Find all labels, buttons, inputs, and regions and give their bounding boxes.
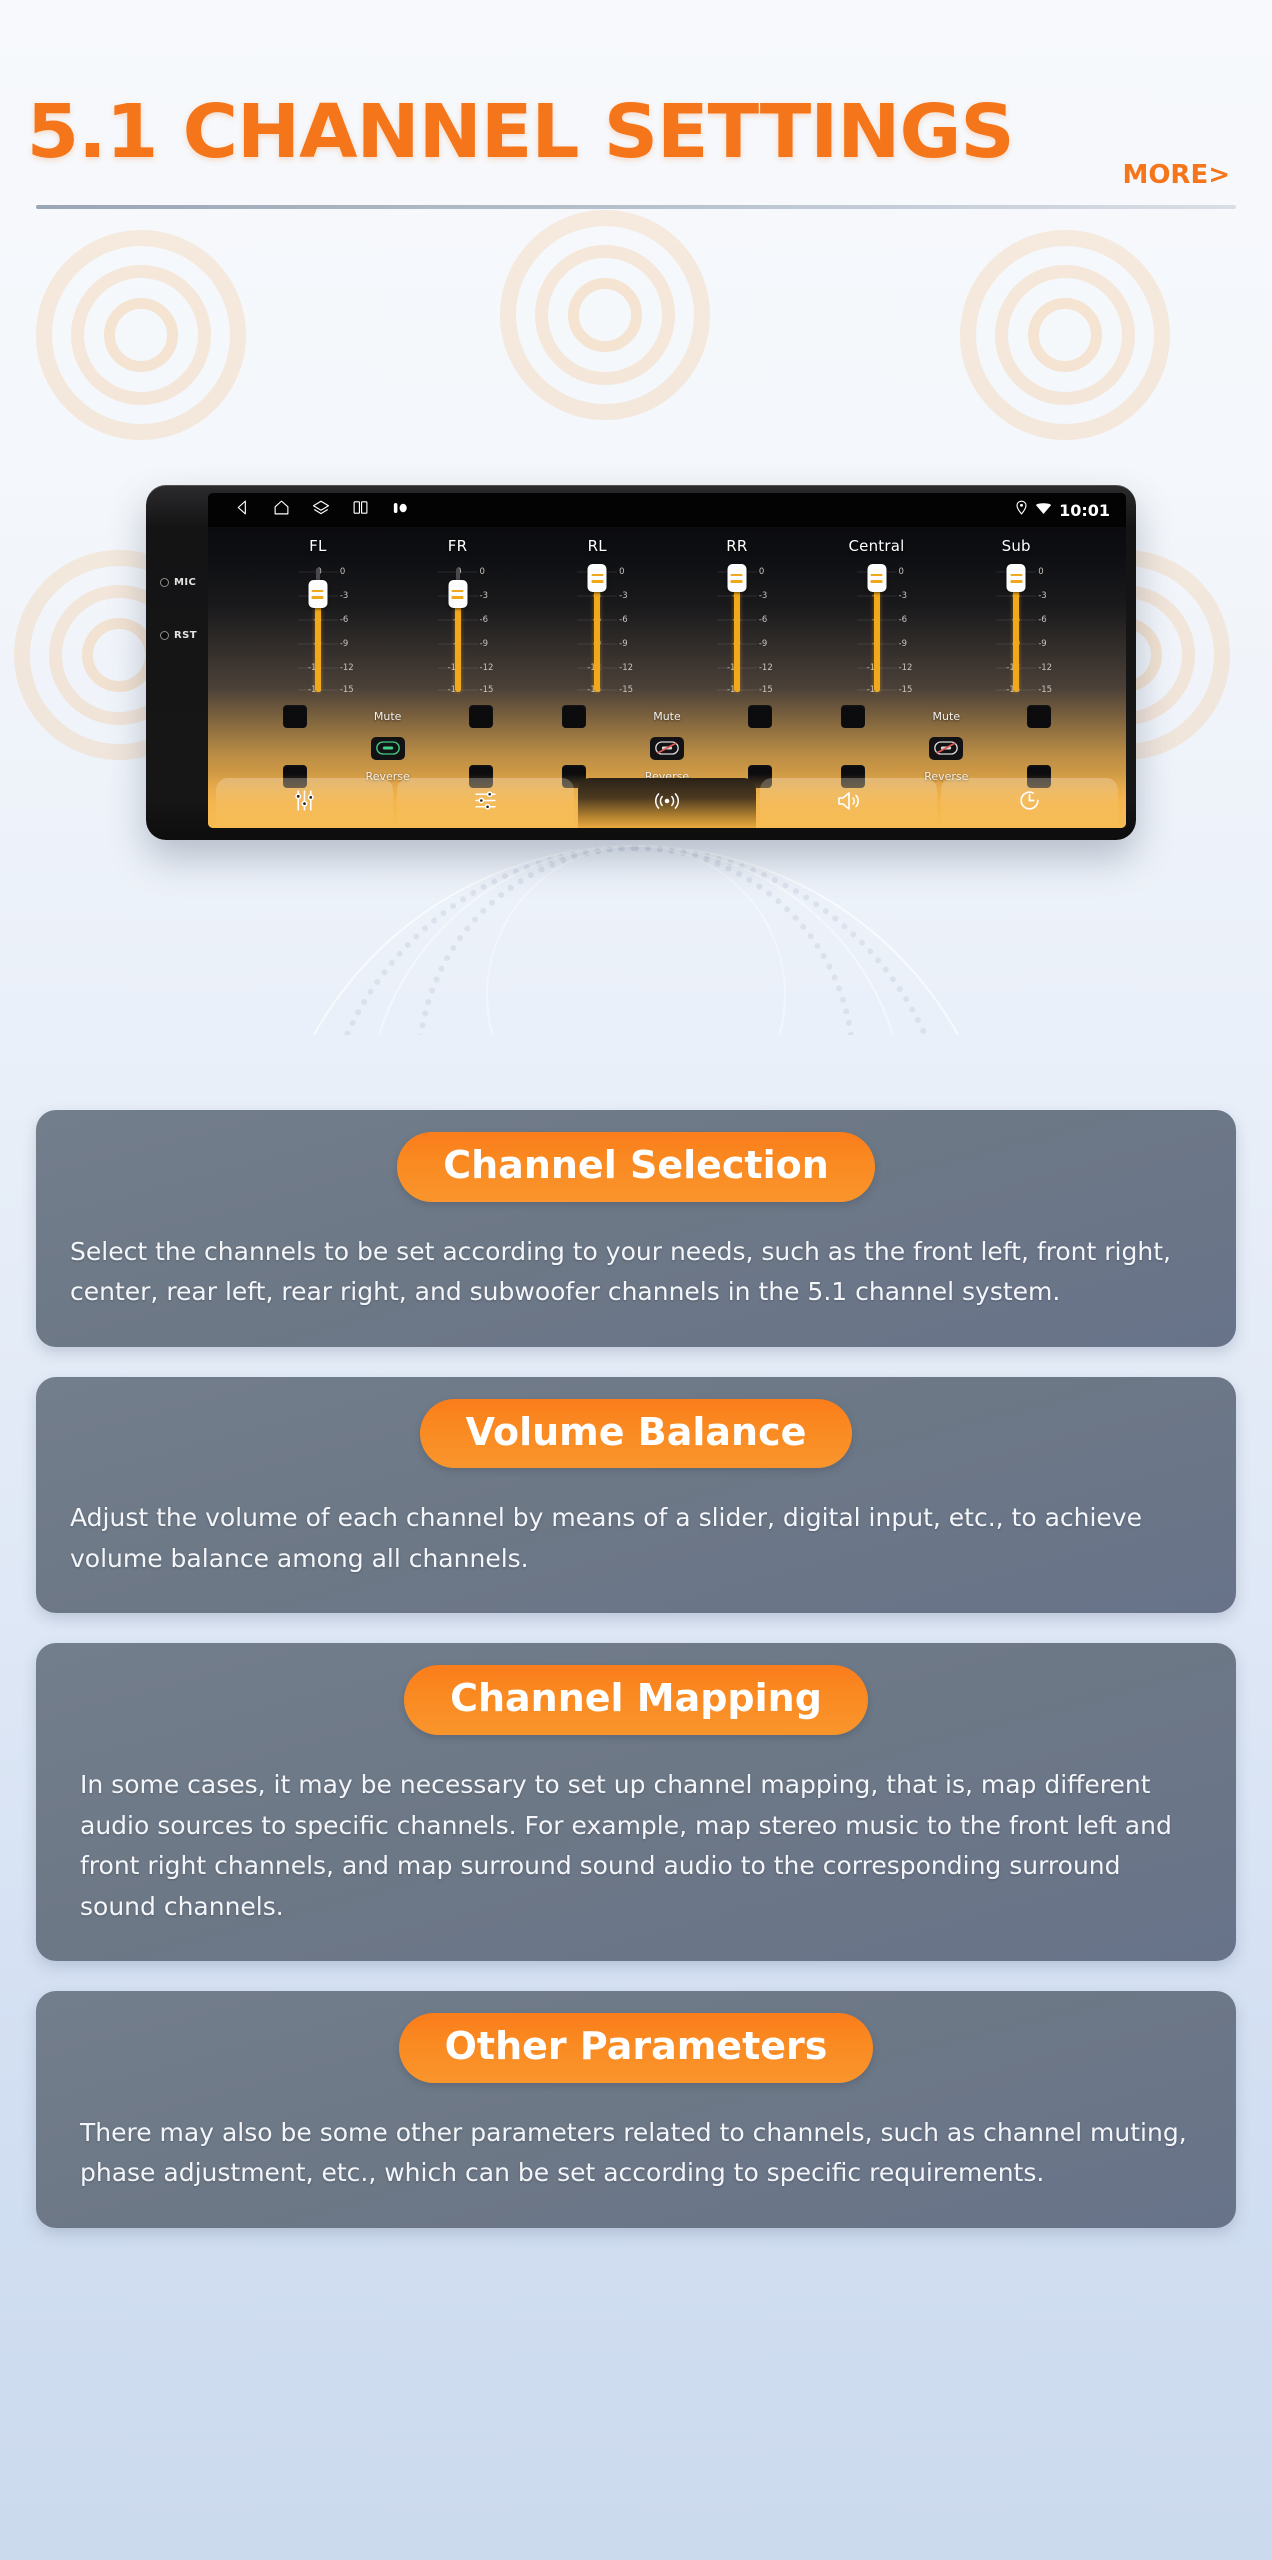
channel-slider-fl[interactable]: 0 -3 -6 -9 -12 -15 0 -3 -6 -9 -12 [272,566,364,694]
surround-icon [652,789,682,818]
android-status-bar: 10:01 [208,493,1126,527]
channel-mixer: FL 0 -3 -6 -9 -12 -15 0 - [208,527,1126,694]
pad-cell[interactable] [527,700,620,732]
channel-label: RL [588,537,607,555]
tick-label: -3 [759,591,785,601]
tick-label: -3 [899,591,925,601]
device-side-buttons: MIC RST [160,577,208,683]
speaker-icon [835,789,861,818]
wifi-icon [1035,501,1052,520]
channel-strip-rl: RL 0 -3 -6 -9 -12 -15 0 - [527,537,667,694]
tick-label: -9 [480,639,506,649]
channel-label: RR [726,537,747,555]
toggle-off-icon[interactable] [650,737,684,760]
pad-cell[interactable] [807,700,900,732]
channel-strip-rr: RR 0 -3 -6 -9 -12 -15 0 - [667,537,807,694]
slider-thumb[interactable] [448,580,467,608]
hud-reflection [256,845,1016,1035]
card-body: Adjust the volume of each channel by mea… [36,1498,1236,1579]
back-icon[interactable] [234,499,251,521]
card-body: Select the channels to be set according … [36,1232,1236,1313]
tick-label: -6 [899,615,925,625]
toggle-row [248,732,1086,760]
volume-tab[interactable] [760,778,937,828]
tick-label: -3 [340,591,366,601]
tick-label: -6 [759,615,785,625]
pad-cell[interactable] [434,700,527,732]
channel-slider-fr[interactable]: 0 -3 -6 -9 -12 -15 0 -3 -6 -9 -12 [412,566,504,694]
tick-label: 0 [480,567,506,577]
tick-label: -12 [480,663,506,673]
mute-row: Mute Mute Mute [248,700,1086,732]
tick-label: 0 [899,567,925,577]
pad-button [1027,705,1051,728]
reset-button[interactable]: RST [160,630,208,641]
channel-strip-central: Central 0 -3 -6 -9 -12 -15 0 [807,537,947,694]
channel-label: Sub [1002,537,1031,555]
mic-hole-icon [160,578,169,587]
channel-label: FL [309,537,326,555]
card-channel-mapping: Channel Mapping In some cases, it may be… [36,1643,1236,1961]
tick-label: -12 [340,663,366,673]
tick-label: -9 [759,639,785,649]
screen-toolbar [208,774,1126,828]
status-bar-time: 10:01 [1059,501,1110,520]
mute-label: Mute [933,710,961,723]
channel-slider-rr[interactable]: 0 -3 -6 -9 -12 -15 0 -3 -6 -9 -12 [691,566,783,694]
head-unit-device: MIC RST [146,485,1136,840]
volume-icon[interactable] [391,500,411,521]
card-body: There may also be some other parameters … [36,2113,1236,2194]
channel-strip-fl: FL 0 -3 -6 -9 -12 -15 0 - [248,537,388,694]
reset-label: RST [174,630,197,641]
tick-label: -9 [340,639,366,649]
card-title-pill: Channel Selection [397,1132,875,1202]
mute-label-cell: Mute [341,700,434,732]
page-title: 5.1 CHANNEL SETTINGS [0,95,1014,169]
pad-button [841,705,865,728]
tick-label: -6 [340,615,366,625]
channel-label: FR [448,537,467,555]
channel-slider-central[interactable]: 0 -3 -6 -9 -12 -15 0 -3 -6 -9 -12 [831,566,923,694]
tick-label: 0 [1038,567,1064,577]
recent-apps-icon[interactable] [312,499,330,522]
mute-label: Mute [653,710,681,723]
tick-label: -6 [619,615,645,625]
mic-label: MIC [174,577,196,588]
home-icon[interactable] [273,499,290,521]
pad-cell[interactable] [248,700,341,732]
tick-label: -12 [899,663,925,673]
channel-strip-fr: FR 0 -3 -6 -9 -12 -15 0 - [388,537,528,694]
header-divider [36,205,1236,209]
tick-label: -6 [1038,615,1064,625]
surround-tab[interactable] [578,778,755,828]
fader-tab[interactable] [397,778,574,828]
channel-slider-sub[interactable]: 0 -3 -6 -9 -12 -15 0 -3 -6 -9 -12 [970,566,1062,694]
equalizer-icon [292,788,317,818]
device-screen: 10:01 FL 0 -3 -6 -9 -12 [208,493,1126,828]
channel-slider-rl[interactable]: 0 -3 -6 -9 -12 -15 0 -3 -6 -9 -12 [551,566,643,694]
delay-tab[interactable] [941,778,1118,828]
channel-label: Central [849,537,905,555]
slider-thumb[interactable] [727,564,746,592]
mute-label-cell: Mute [620,700,713,732]
tick-label: -3 [480,591,506,601]
tick-label: 0 [340,567,366,577]
tick-label: -12 [759,663,785,673]
slider-thumb[interactable] [1007,564,1026,592]
card-channel-selection: Channel Selection Select the channels to… [36,1110,1236,1347]
pad-button [748,705,772,728]
info-cards: Channel Selection Select the channels to… [0,1110,1272,2228]
tick-label: 0 [759,567,785,577]
pad-button [562,705,586,728]
pad-cell[interactable] [714,700,807,732]
page-header: 5.1 CHANNEL SETTINGS MORE> [0,0,1272,230]
tick-label: -9 [899,639,925,649]
tick-label: 0 [619,567,645,577]
more-link[interactable]: MORE> [1122,160,1230,190]
card-title-pill: Channel Mapping [404,1665,868,1735]
equalizer-tab[interactable] [216,778,393,828]
tick-label: -9 [619,639,645,649]
card-title-pill: Other Parameters [399,2013,874,2083]
channel-strip-sub: Sub 0 -3 -6 -9 -12 -15 0 [946,537,1086,694]
split-screen-icon[interactable] [352,499,369,521]
pad-button [469,705,493,728]
card-other-parameters: Other Parameters There may also be some … [36,1991,1236,2228]
pad-button [283,705,307,728]
toggle-off-icon[interactable] [929,737,963,760]
pad-cell[interactable] [993,700,1086,732]
tick-label: -6 [480,615,506,625]
hero-section: MIC RST [0,220,1272,1100]
tick-label: -3 [1038,591,1064,601]
slider-thumb[interactable] [588,564,607,592]
toggle-on-icon[interactable] [371,737,405,760]
reset-hole-icon [160,631,169,640]
card-body: In some cases, it may be necessary to se… [36,1765,1236,1927]
location-pin-icon [1015,500,1028,520]
card-title-pill: Volume Balance [420,1399,853,1469]
slider-thumb[interactable] [308,580,327,608]
slider-thumb[interactable] [867,564,886,592]
mute-label: Mute [374,710,402,723]
tick-label: -9 [1038,639,1064,649]
mic-button[interactable]: MIC [160,577,208,588]
tick-label: -12 [1038,663,1064,673]
tick-label: -3 [619,591,645,601]
card-volume-balance: Volume Balance Adjust the volume of each… [36,1377,1236,1614]
timer-icon [1017,788,1042,818]
mute-label-cell: Mute [900,700,993,732]
fader-icon [473,788,498,818]
tick-label: -12 [619,663,645,673]
